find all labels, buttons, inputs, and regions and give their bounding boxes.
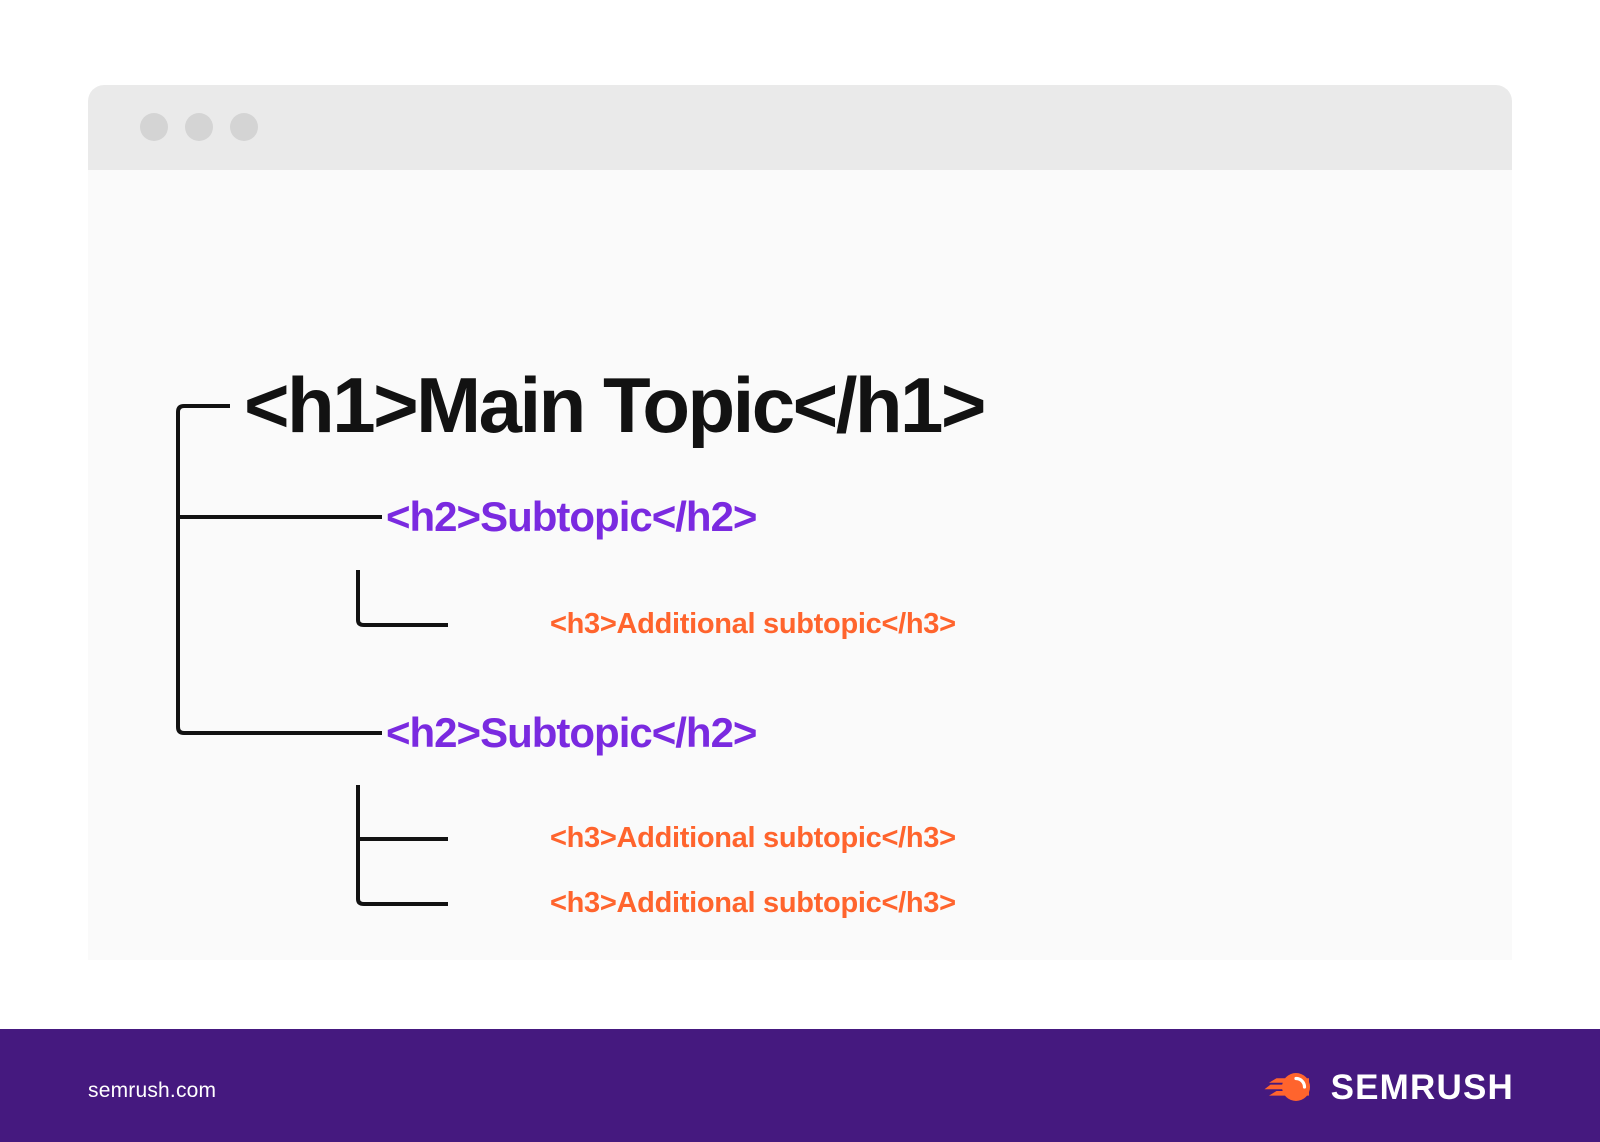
outline-node-h3-second: <h3>Additional subtopic</h3> bbox=[550, 824, 956, 853]
outline-node-h1: <h1>Main Topic</h1> bbox=[244, 366, 984, 444]
footer-site-url[interactable]: semrush.com bbox=[88, 1079, 216, 1103]
semrush-wordmark: SEMRUSH bbox=[1331, 1070, 1514, 1105]
window-minimize-dot-icon[interactable] bbox=[185, 113, 213, 141]
browser-titlebar bbox=[88, 85, 1512, 170]
semrush-comet-icon bbox=[1264, 1069, 1314, 1105]
footer-bar: semrush.com SEMRUSH bbox=[0, 1029, 1600, 1142]
outline-node-h3-first: <h3>Additional subtopic</h3> bbox=[550, 610, 956, 639]
window-maximize-dot-icon[interactable] bbox=[230, 113, 258, 141]
browser-content-area: <h1>Main Topic</h1> <h2>Subtopic</h2> <h… bbox=[88, 170, 1512, 960]
traffic-light-group bbox=[140, 113, 258, 141]
heading-outline-diagram: <h1>Main Topic</h1> <h2>Subtopic</h2> <h… bbox=[88, 170, 1512, 960]
page-root: <h1>Main Topic</h1> <h2>Subtopic</h2> <h… bbox=[0, 0, 1600, 1142]
semrush-logo[interactable]: SEMRUSH bbox=[1264, 1069, 1514, 1105]
window-close-dot-icon[interactable] bbox=[140, 113, 168, 141]
outline-node-h2-first: <h2>Subtopic</h2> bbox=[386, 496, 756, 538]
outline-node-h3-third: <h3>Additional subtopic</h3> bbox=[550, 889, 956, 918]
outline-node-h2-second: <h2>Subtopic</h2> bbox=[386, 712, 756, 754]
browser-window-mock: <h1>Main Topic</h1> <h2>Subtopic</h2> <h… bbox=[88, 85, 1512, 960]
